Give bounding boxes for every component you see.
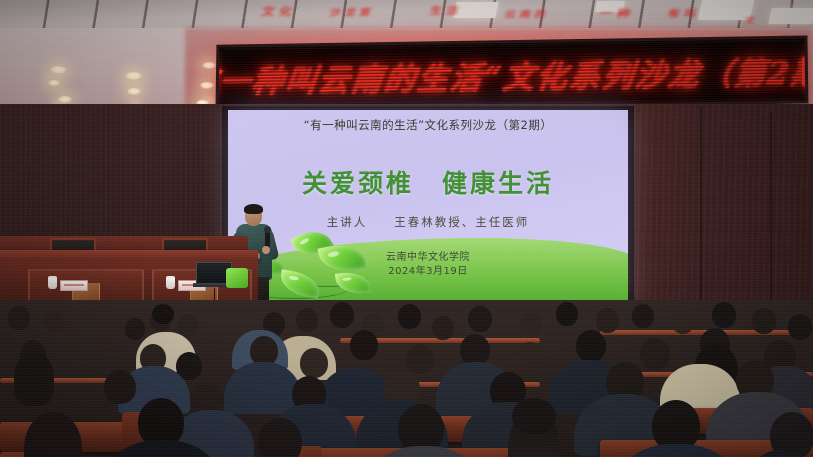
ceiling-downlight (200, 82, 214, 89)
audience-head (178, 314, 198, 336)
audience-head (296, 308, 318, 332)
audience-head (406, 344, 434, 374)
slide-header-text: “有一种叫云南的生活”文化系列沙龙（第2期） (228, 117, 628, 133)
wall-seam (700, 106, 702, 306)
audience-head (300, 348, 328, 378)
ceiling-downlight (125, 72, 142, 80)
audience-head (512, 398, 556, 434)
audience-head (104, 370, 136, 404)
audience-head (330, 302, 354, 328)
ceiling-downlight (50, 66, 67, 74)
led-banner-text: “有一种叫云南的生活“文化系列沙龙（第2期） (215, 46, 808, 102)
slide-organization-text: 云南中华文化学院 (228, 248, 628, 263)
ceiling-light-panel (768, 8, 813, 24)
presenter-hand (262, 246, 270, 254)
audience-head (398, 304, 421, 329)
led-banner-screen: “有一种叫云南的生活“文化系列沙龙（第2期） (222, 42, 803, 107)
slide-title-text: 关爱颈椎 健康生活 (228, 164, 628, 200)
name-placard (60, 280, 88, 291)
ceiling-downlight (48, 80, 60, 86)
slide-speaker-text: 主讲人 王春林教授、主任医师 (228, 214, 628, 230)
slide-date-text: 2024年3月19日 (228, 262, 628, 277)
audience-head (640, 338, 670, 370)
audience-head (516, 342, 544, 372)
audience-head (8, 306, 30, 330)
right-wall-wood-panel (628, 104, 813, 319)
audience-head (712, 302, 736, 328)
green-equipment-case (226, 268, 248, 288)
audience-head (576, 330, 606, 362)
audience-head (152, 304, 174, 324)
audience-head (125, 318, 145, 340)
audience-head (596, 308, 619, 333)
audience-head (432, 316, 454, 340)
microphone (265, 230, 270, 247)
audience-head (672, 310, 694, 334)
lecture-hall-photo: 文 化 沙 龙 第 生 活 云 南 的 一 种 有 叫 文 “有一种叫云南的生活… (0, 0, 813, 457)
ceiling-light-panel (698, 0, 754, 20)
ceiling-light-panel (595, 1, 625, 12)
audience-hair (14, 352, 54, 406)
audience-head (44, 310, 64, 332)
audience-area (0, 300, 813, 457)
ceiling-downlight (202, 62, 216, 69)
ceiling-downlight (58, 96, 72, 103)
audience-head (556, 302, 578, 326)
audience-long-hair (24, 412, 82, 457)
water-cup (166, 276, 175, 289)
audience-head (468, 306, 492, 332)
wall-seam (770, 112, 772, 302)
audience-head (632, 304, 654, 328)
ceiling-light-panel (453, 2, 498, 18)
audience-head (752, 308, 776, 334)
ceiling-downlight (127, 88, 141, 95)
audience-head (788, 314, 812, 340)
projection-screen: “有一种叫云南的生活”文化系列沙龙（第2期） 关爱颈椎 健康生活 主讲人 王春林… (228, 110, 628, 304)
led-banner: “有一种叫云南的生活“文化系列沙龙（第2期） (215, 35, 808, 112)
water-cup (48, 276, 57, 289)
audience-head (520, 312, 542, 336)
presenter-hair (244, 204, 263, 214)
audience-head (350, 330, 378, 360)
